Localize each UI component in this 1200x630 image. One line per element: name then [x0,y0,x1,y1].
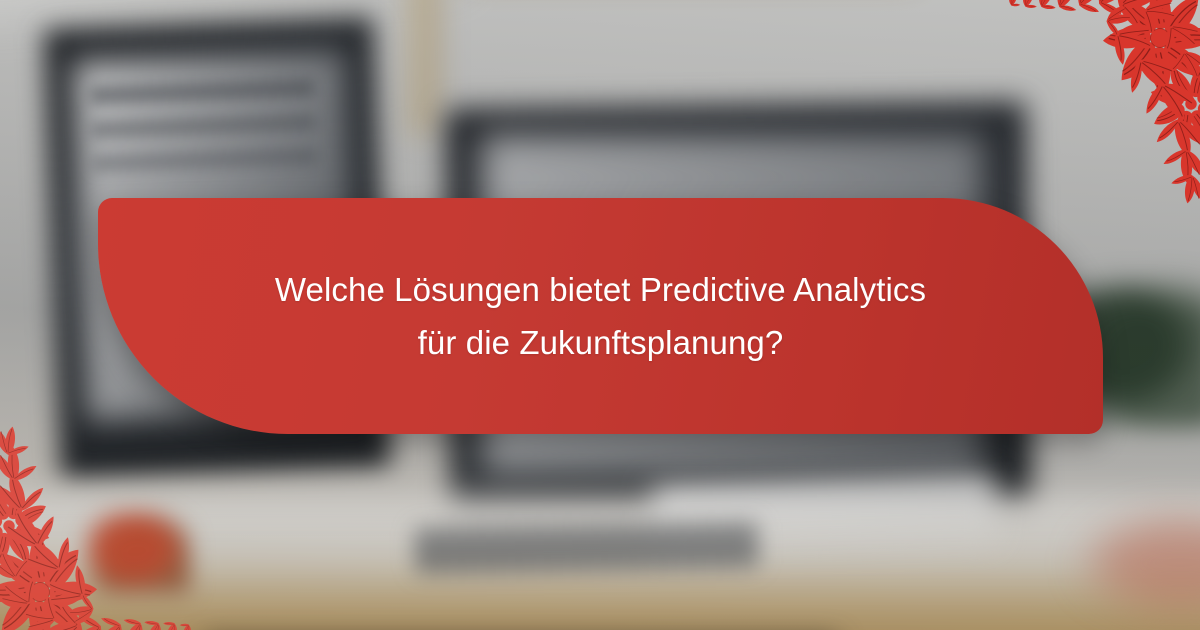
banner-canvas: Welche Lösungen bietet Predictive Analyt… [0,0,1200,630]
headline-text: Welche Lösungen bietet Predictive Analyt… [205,263,996,370]
headline-line-2: für die Zukunftsplanung? [275,316,926,369]
headline-line-1: Welche Lösungen bietet Predictive Analyt… [275,263,926,316]
headline-banner: Welche Lösungen bietet Predictive Analyt… [98,198,1103,434]
